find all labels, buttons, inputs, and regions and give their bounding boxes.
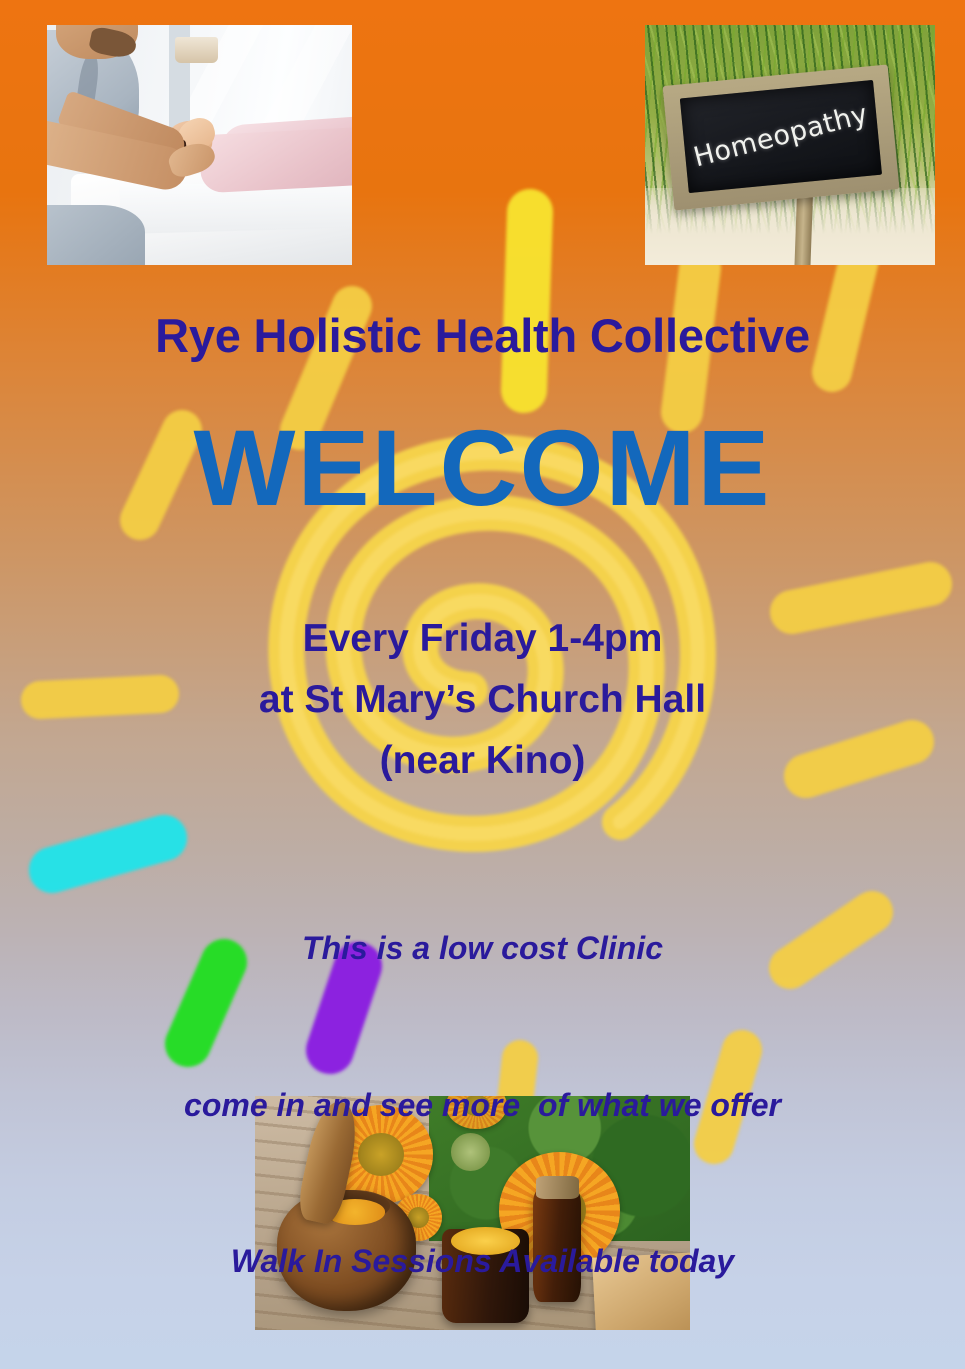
poster-canvas: Homeopathy Rye Holistic Health Collectiv… bbox=[0, 0, 965, 1369]
session-details-block: Every Friday 1-4pm at St Mary’s Church H… bbox=[0, 608, 965, 792]
welcome-heading: WELCOME bbox=[0, 414, 965, 522]
page-title: Rye Holistic Health Collective bbox=[0, 308, 965, 363]
offer-line-cost: This is a low cost Clinic bbox=[0, 922, 965, 974]
details-line-venue: at St Mary’s Church Hall bbox=[0, 669, 965, 730]
offer-message-block: This is a low cost Clinic come in and se… bbox=[0, 818, 965, 1369]
offer-line-walkins: Walk In Sessions Available today bbox=[0, 1235, 965, 1287]
poster-text-layer: Rye Holistic Health Collective WELCOME E… bbox=[0, 0, 965, 1369]
offer-line-invite: come in and see more of what we offer bbox=[0, 1079, 965, 1131]
details-line-landmark: (near Kino) bbox=[0, 730, 965, 791]
details-line-time: Every Friday 1-4pm bbox=[0, 608, 965, 669]
